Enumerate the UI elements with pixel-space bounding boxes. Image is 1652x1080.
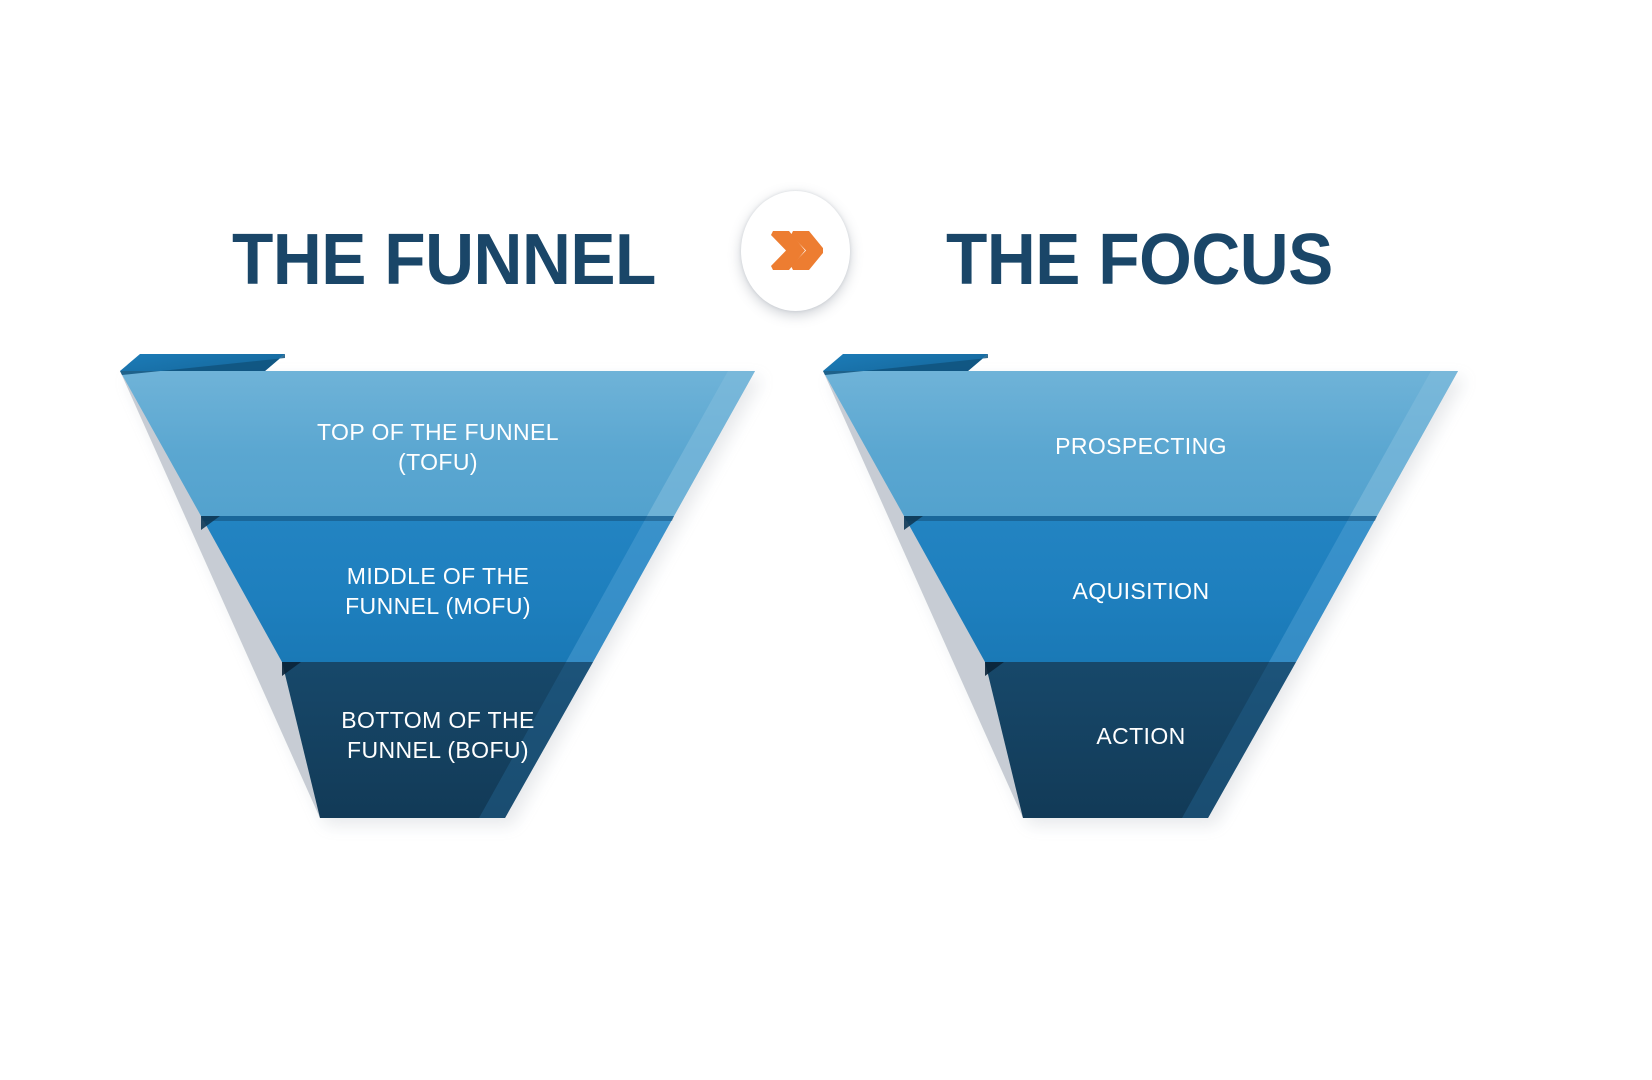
- page-title-left: THE FUNNEL: [232, 196, 656, 324]
- funnel-band-bottom-label-line2: FUNNEL (BOFU): [347, 737, 529, 763]
- focus-band-top-label: PROSPECTING: [1055, 433, 1227, 459]
- page-title-right: THE FOCUS: [946, 196, 1333, 324]
- diagram-canvas: THE FUNNEL THE FOCUS: [0, 0, 1652, 1080]
- funnel-band-top[interactable]: TOP OF THE FUNNEL (TOFU): [120, 354, 755, 516]
- funnel-band-bottom-label-line1: BOTTOM OF THE: [341, 707, 534, 733]
- focus-band-middle-label: AQUISITION: [1073, 578, 1210, 604]
- funnel-band-middle[interactable]: MIDDLE OF THE FUNNEL (MOFU): [201, 516, 674, 662]
- focus-band-middle[interactable]: AQUISITION: [904, 516, 1377, 662]
- funnel-band-top-label-line1: TOP OF THE FUNNEL: [317, 419, 559, 445]
- funnel-band-bottom[interactable]: BOTTOM OF THE FUNNEL (BOFU): [282, 662, 593, 818]
- funnel-band-middle-label-line1: MIDDLE OF THE: [347, 563, 529, 589]
- focus-band-bottom[interactable]: ACTION: [985, 662, 1296, 818]
- center-badge: [741, 191, 850, 311]
- double-chevron-right-icon: [769, 231, 823, 271]
- focus-band-bottom-label: ACTION: [1096, 723, 1185, 749]
- funnel-band-top-label-line2: (TOFU): [398, 449, 478, 475]
- funnel-the-funnel: TOP OF THE FUNNEL (TOFU) MIDDLE OF THE F…: [98, 340, 858, 850]
- funnel-the-focus: PROSPECTING AQUISITION ACTION: [801, 340, 1561, 850]
- focus-band-top[interactable]: PROSPECTING: [823, 354, 1458, 516]
- funnel-band-middle-label-line2: FUNNEL (MOFU): [345, 593, 531, 619]
